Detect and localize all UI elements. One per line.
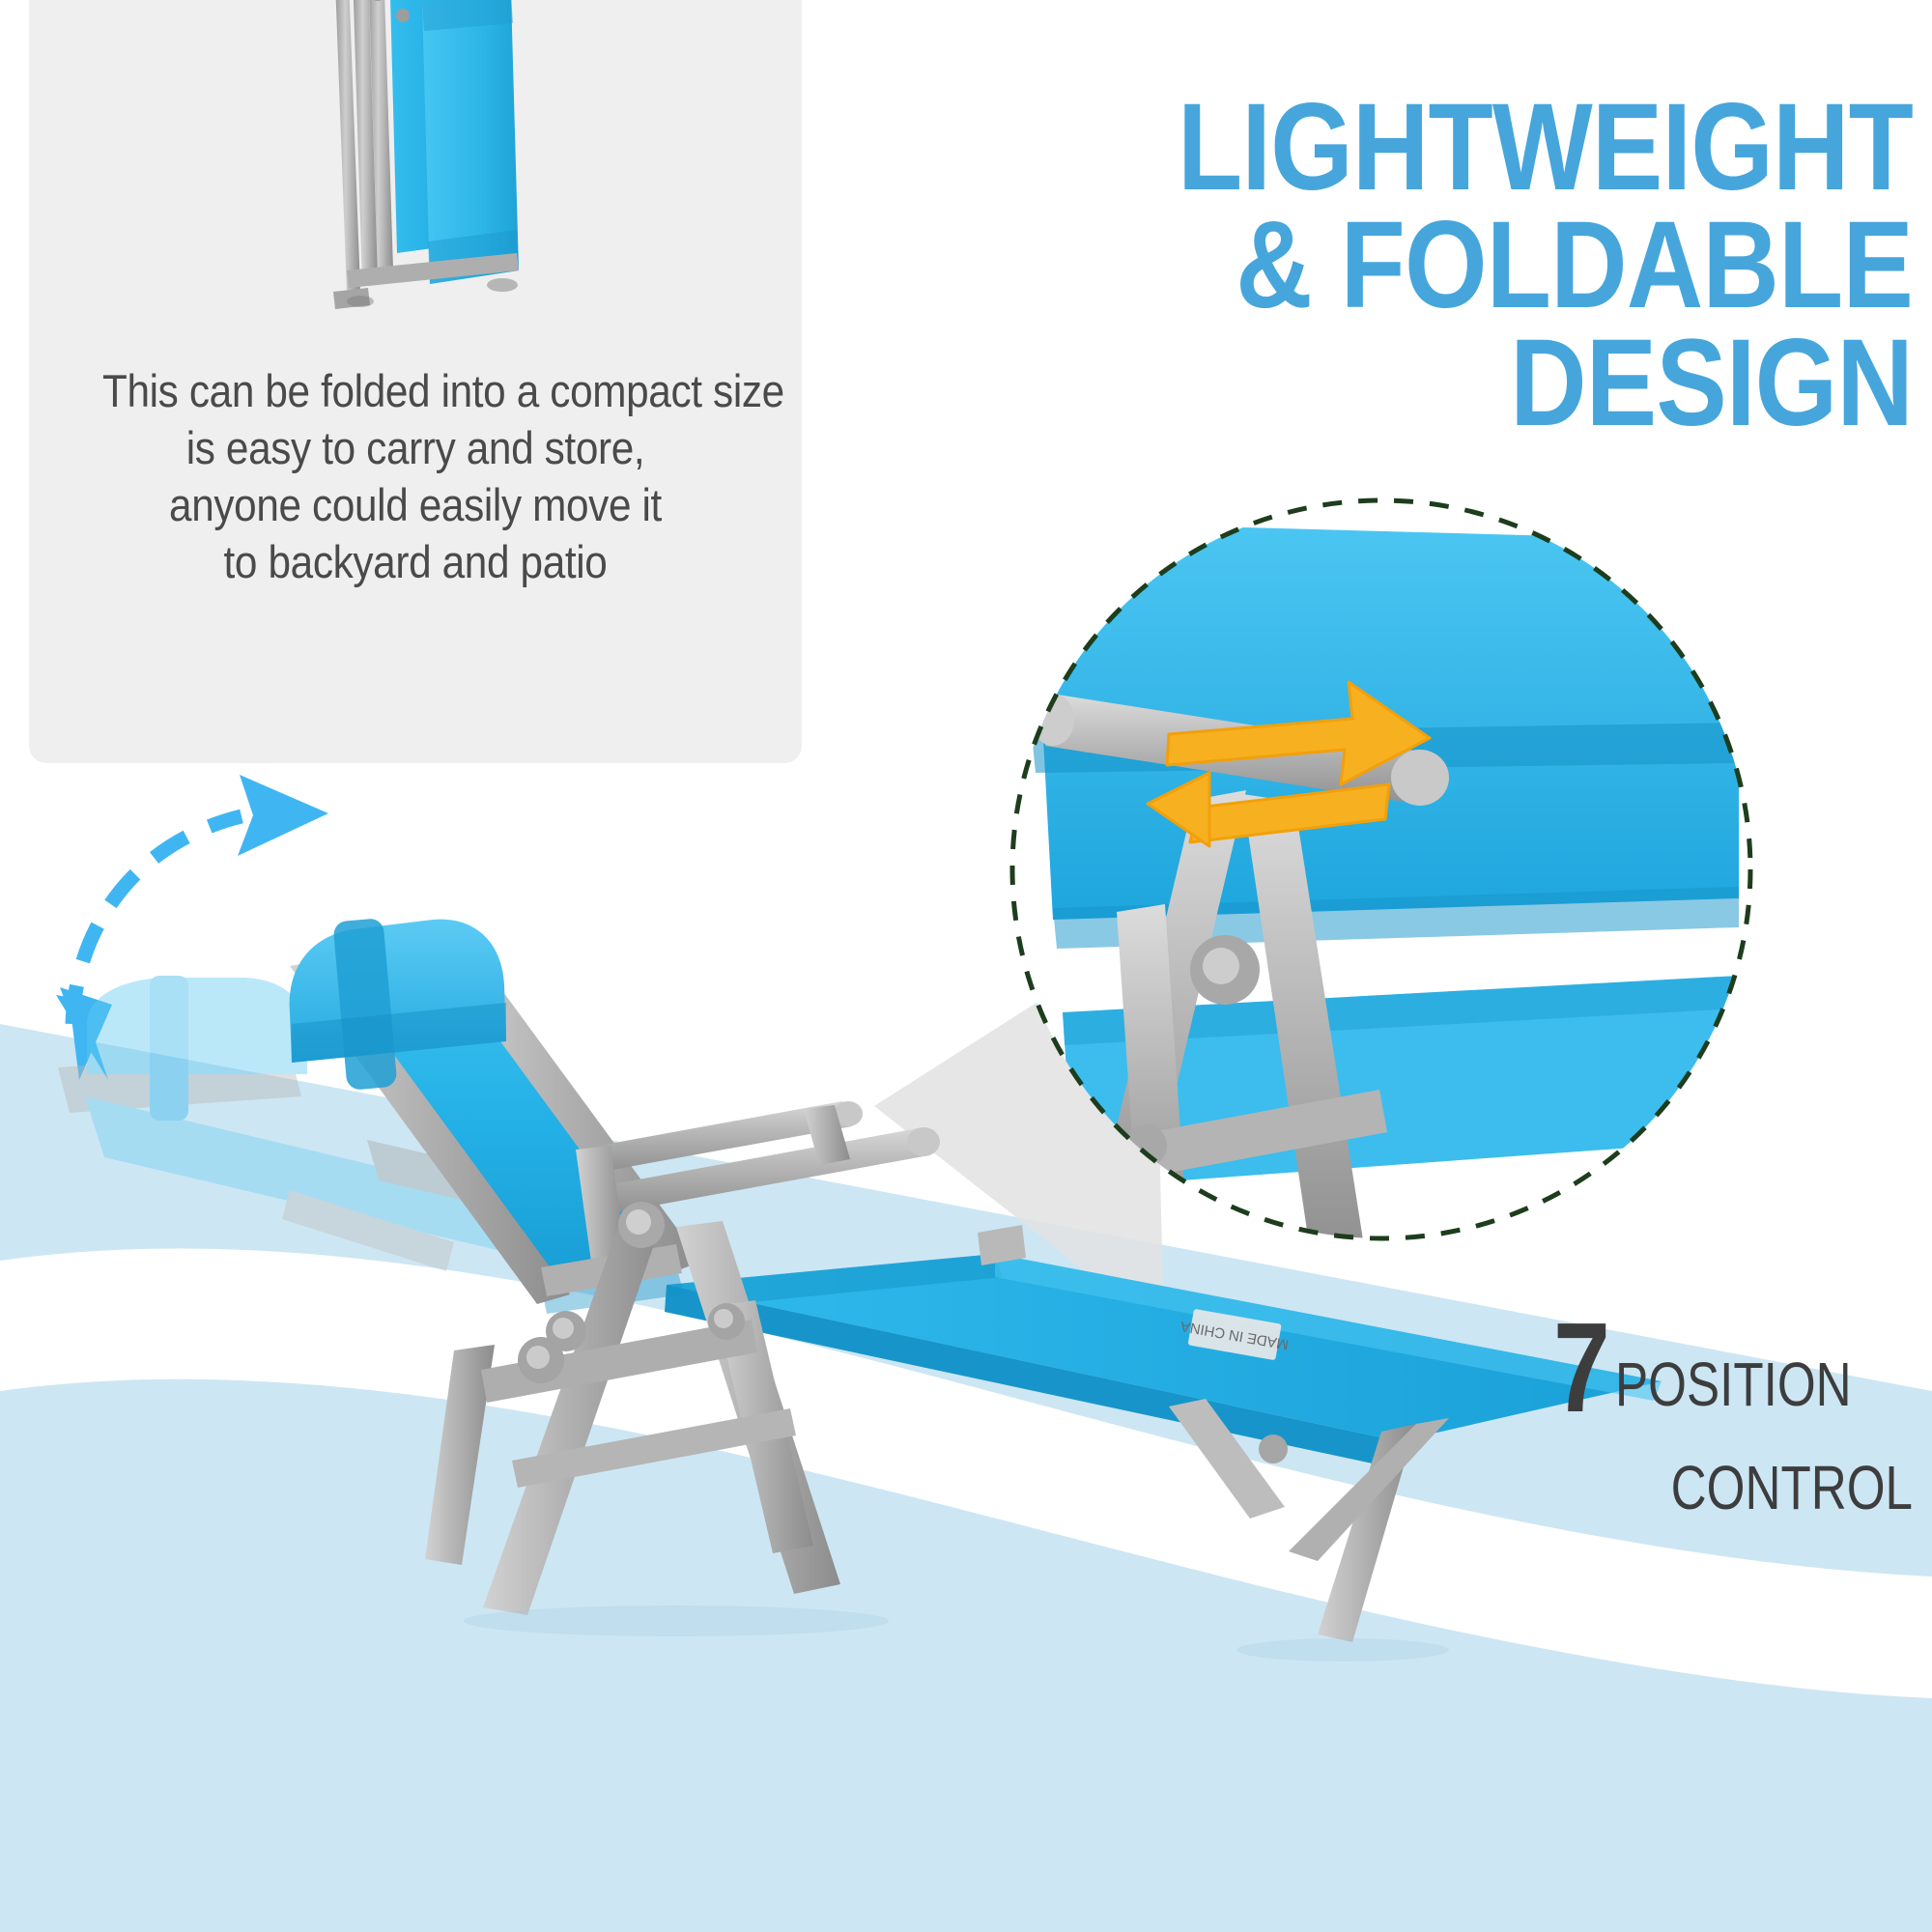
desc-line-2: is easy to carry and store, [102, 419, 728, 476]
position-control-callout: 7POSITION CONTROL [1150, 1323, 1913, 1529]
headline-line-3: DESIGN [932, 325, 1913, 442]
position-label: POSITION [1607, 1340, 1852, 1429]
control-label: CONTROL [1302, 1446, 1913, 1529]
infographic-canvas: This can be folded into a compact size i… [0, 0, 1932, 1932]
info-panel: This can be folded into a compact size i… [29, 0, 802, 763]
headline-line-1: LIGHTWEIGHT [932, 89, 1913, 207]
panel-description: This can be folded into a compact size i… [102, 362, 728, 590]
position-control-row-1: 7POSITION [1150, 1323, 1913, 1446]
folded-chair-image [275, 0, 594, 333]
position-count: 7 [1553, 1323, 1607, 1412]
desc-line-1: This can be folded into a compact size [102, 362, 728, 419]
headline-line-2: & FOLDABLE [932, 207, 1913, 325]
desc-line-3: anyone could easily move it [102, 476, 728, 533]
page-title: LIGHTWEIGHT & FOLDABLE DESIGN [773, 89, 1913, 442]
desc-line-4: to backyard and patio [102, 533, 728, 590]
